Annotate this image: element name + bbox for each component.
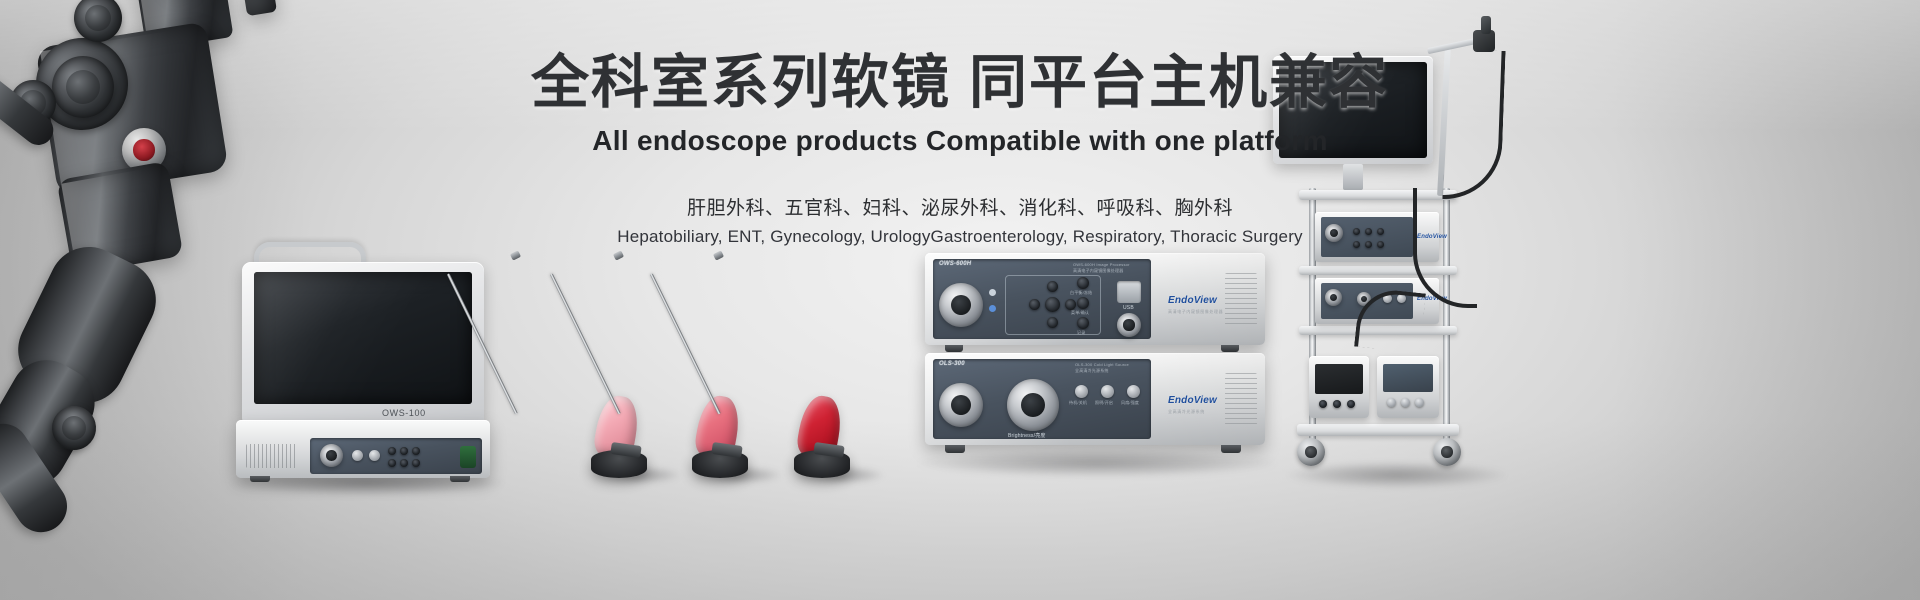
model-label: OWS-100 xyxy=(382,408,426,418)
brightness-knob xyxy=(1007,379,1059,431)
processor-lightsource-stack: OWS-600H OWS-600H Image Processor 高清电子内窥… xyxy=(925,253,1270,468)
white-balance-button xyxy=(1077,277,1089,289)
lamp-button xyxy=(1101,385,1114,398)
brand-label-lightsource: EndoView xyxy=(1168,395,1217,406)
record-button xyxy=(1077,317,1089,329)
keypad-button xyxy=(400,447,408,455)
main-knob xyxy=(320,444,343,467)
vent-grille xyxy=(1225,273,1257,325)
lamp-label: 照明/开启 xyxy=(1095,400,1113,406)
cart-base-shelf xyxy=(1297,424,1459,436)
instrument-3 xyxy=(718,258,858,488)
standby-label: 待机/关机 xyxy=(1069,400,1087,406)
brand-label-processor: EndoView xyxy=(1168,295,1217,306)
panel-badge: OLS-300 xyxy=(939,361,965,367)
usb-port xyxy=(1117,281,1141,303)
keypad-button xyxy=(412,459,420,467)
subheadline: All endoscope products Compatible with o… xyxy=(0,125,1920,157)
keypad-button xyxy=(400,459,408,467)
vent-grille xyxy=(246,444,298,468)
white-balance-label: 白平衡/冻结 xyxy=(1070,290,1092,296)
lightsource-title-cn: 全高清冷光源系统 xyxy=(1075,368,1109,374)
cart-unit-2-knob xyxy=(1325,289,1342,306)
function-button xyxy=(352,450,363,461)
panel-badge: OWS-600H xyxy=(939,261,971,267)
processor-title-en: OWS-600H Image Processor xyxy=(1073,262,1130,267)
vent-grille xyxy=(1225,373,1257,425)
nav-right-button xyxy=(1065,299,1076,310)
cart-wheel-right xyxy=(1433,438,1461,466)
nav-ok-button xyxy=(1045,297,1060,312)
banner-text-block: 全科室系列软镜 同平台主机兼容 All endoscope products C… xyxy=(0,52,1920,247)
brightness-label: Brightness/亮度 xyxy=(1008,432,1046,439)
scope-connector-socket xyxy=(939,283,983,327)
headline: 全科室系列软镜 同平台主机兼容 xyxy=(0,52,1920,115)
status-indicator xyxy=(460,446,476,468)
keypad-button xyxy=(412,447,420,455)
keypad-button xyxy=(388,459,396,467)
lightsource-title-en: OLS-300 Cold Light Source xyxy=(1075,362,1129,367)
cart-wheel-left xyxy=(1297,438,1325,466)
indicator-lamp xyxy=(989,289,996,296)
secondary-knob xyxy=(1117,313,1141,337)
indicator-lamp xyxy=(989,305,996,312)
nav-left-button xyxy=(1029,299,1040,310)
processor-title-cn: 高清电子内窥镜图像处理器 xyxy=(1073,268,1123,274)
cart-unit-3-display xyxy=(1315,364,1363,394)
ows-100-workstation: OWS-100 EndoView xyxy=(236,248,496,488)
lightsource-sub-label: 全高清冷光源系统 xyxy=(1168,409,1205,415)
menu-enter-label: 菜单/确认 xyxy=(1071,310,1089,316)
processor-sub-label: 高清电子内窥镜图像处理器 xyxy=(1168,309,1223,315)
function-button xyxy=(369,450,380,461)
record-label: 记录 xyxy=(1077,330,1085,336)
light-output-socket xyxy=(939,383,983,427)
cart-unit-4-display xyxy=(1383,364,1433,392)
usb-label: USB xyxy=(1123,305,1134,311)
nav-up-button xyxy=(1047,281,1058,292)
fan-button xyxy=(1127,385,1140,398)
nav-down-button xyxy=(1047,317,1058,328)
menu-enter-button xyxy=(1077,297,1089,309)
specialties-chinese: 肝胆外科、五官科、妇科、泌尿外科、消化科、呼吸科、胸外科 xyxy=(0,193,1920,220)
standby-button xyxy=(1075,385,1088,398)
product-banner: OWS-100 EndoView xyxy=(0,0,1920,600)
keypad-button xyxy=(388,447,396,455)
fan-label: 风扇/强度 xyxy=(1121,400,1139,406)
specialties-english: Hepatobiliary, ENT, Gynecology, UrologyG… xyxy=(0,227,1920,247)
